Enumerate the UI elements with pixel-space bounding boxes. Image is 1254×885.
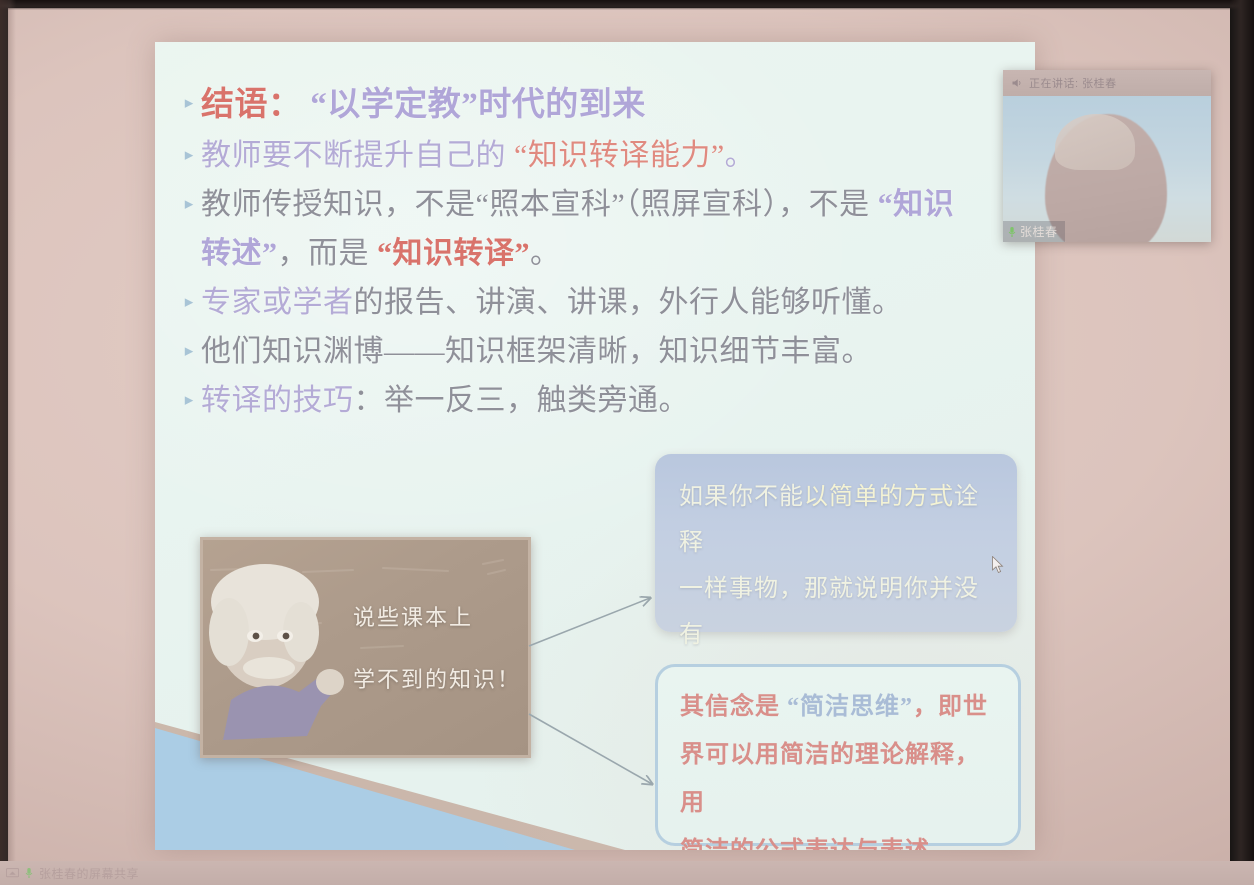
text-segment: ，而是 — [278, 237, 378, 270]
slide-bullet-text: 教师传授知识，不是“照本宣科”（照屏宣科），不是 “知识 — [201, 181, 1023, 228]
text-segment: 教师要不断提升自己的 — [201, 139, 506, 172]
slide-bullet-text: 转译的技巧：举一反三，触类旁通。 — [201, 377, 1023, 424]
text-segment: “知识转译” — [377, 237, 530, 270]
photo-left-edge — [0, 0, 16, 885]
callout-box-red: 其信念是 “简洁思维”，即世界可以用简洁的理论解释，用简洁的公式表达与表述 — [655, 664, 1021, 846]
video-overlay-titlebar[interactable]: 正在讲话: 张桂春 — [1003, 70, 1211, 96]
text-segment: 。 — [725, 139, 756, 172]
participant-name-label: 张桂春 — [1020, 223, 1058, 240]
slide-bullet-list: ▸结语： “以学定教”时代的到来▸教师要不断提升自己的 “知识转译能力”。▸教师… — [177, 80, 1023, 426]
bullet-triangle-icon: ▸ — [177, 132, 201, 178]
einstein-caption-line-1: 说些课本上 — [353, 600, 473, 632]
text-segment: 教师传授知识，不是 — [201, 188, 476, 221]
video-feed[interactable]: 张桂春 — [1003, 96, 1211, 242]
text-segment: 专家或学者 — [201, 286, 354, 319]
arrow-to-blue-callout — [529, 598, 650, 646]
text-segment: “简洁思维” — [780, 694, 913, 720]
text-segment: 。 — [530, 237, 561, 270]
photographed-projection-scene: ▸结语： “以学定教”时代的到来▸教师要不断提升自己的 “知识转译能力”。▸教师… — [0, 0, 1254, 885]
slide-bullet-row: ▸教师传授知识，不是“照本宣科”（照屏宣科），不是 “知识 — [177, 181, 1023, 228]
einstein-chalkboard-image: 说些课本上 学不到的知识！ — [200, 537, 531, 758]
slide-bullet-row: ▸转译的技巧：举一反三，触类旁通。 — [177, 377, 1023, 424]
text-segment: ：举一反三，触类旁通。 — [354, 384, 690, 417]
callout-text-line: 简洁的公式表达与表述 — [680, 827, 996, 850]
screen-share-taskbar[interactable]: 张桂春的屏幕共享 — [0, 861, 1254, 885]
bullet-triangle-icon: ▸ — [177, 181, 201, 227]
slide-bullet-row: ▸教师要不断提升自己的 “知识转译能力”。 — [177, 132, 1023, 179]
slide-bullet-row: 转述”，而是 “知识转译”。 — [177, 230, 1023, 277]
photo-right-edge — [1230, 0, 1254, 885]
text-segment: 其信念是 — [680, 694, 780, 720]
microphone-icon — [24, 867, 34, 879]
text-segment: 简洁的公式表达与表述 — [680, 838, 930, 850]
text-segment: 他们知识渊博——知识框架清晰，知识细节丰富。 — [201, 335, 872, 368]
callout-text-line: 其信念是 “简洁思维”，即世 — [680, 683, 996, 731]
screen-share-icon — [6, 868, 19, 879]
taskbar-label: 张桂春的屏幕共享 — [39, 865, 139, 882]
text-segment: 如果你不能 — [679, 484, 804, 510]
text-segment: 转述” — [201, 237, 278, 270]
text-segment: 结语： — [201, 87, 302, 123]
slide-bullet-text: 教师要不断提升自己的 “知识转译能力”。 — [201, 132, 1023, 179]
participant-name-chip: 张桂春 — [1003, 221, 1065, 242]
mouse-cursor — [992, 556, 1004, 574]
text-segment: “以学定教”时代的到来 — [302, 87, 646, 123]
slide-bullet-text: 结语： “以学定教”时代的到来 — [201, 80, 1023, 130]
text-segment: “知识转译能力” — [506, 139, 725, 172]
text-segment: 以简单的方式 — [804, 484, 954, 510]
text-segment: “照本宣科” — [476, 188, 626, 221]
callout-text-line: 界可以用简洁的理论解释，用 — [680, 731, 996, 827]
einstein-illustration — [203, 540, 528, 755]
bullet-triangle-icon: ▸ — [177, 279, 201, 325]
callout-text-line: 如果你不能以简单的方式诠释 — [679, 474, 993, 566]
photo-top-edge — [0, 0, 1254, 10]
bullet-triangle-icon: ▸ — [177, 328, 201, 374]
text-segment: 转译的技巧 — [201, 384, 354, 417]
slide-bullet-row: ▸他们知识渊博——知识框架清晰，知识细节丰富。 — [177, 328, 1023, 375]
bullet-triangle-icon: ▸ — [177, 80, 201, 126]
text-segment: ，即世 — [913, 694, 988, 720]
text-segment: 界可以用简洁的理论解释，用 — [680, 742, 980, 816]
text-segment: “知识 — [878, 188, 955, 221]
bullet-triangle-icon: ▸ — [177, 377, 201, 423]
slide-bullet-text: 他们知识渊博——知识框架清晰，知识细节丰富。 — [201, 328, 1023, 375]
callout-text-line: 一样事物，那就说明你并没有 — [679, 566, 993, 658]
text-segment: 的报告、讲演、讲课，外行人能够听懂。 — [354, 286, 903, 319]
slide-bullet-row: ▸专家或学者的报告、讲演、讲课，外行人能够听懂。 — [177, 279, 1023, 326]
callout-box-blue: 如果你不能以简单的方式诠释一样事物，那就说明你并没有真正地理解它 — [655, 454, 1017, 632]
einstein-caption-line-2: 学不到的知识！ — [353, 662, 521, 694]
microphone-icon — [1007, 226, 1017, 238]
video-speaking-label: 正在讲话: 张桂春 — [1029, 75, 1117, 91]
slide-bullet-row: ▸结语： “以学定教”时代的到来 — [177, 80, 1023, 130]
participant-hair — [1055, 114, 1135, 170]
video-participant-overlay[interactable]: 正在讲话: 张桂春 张桂春 — [1003, 70, 1211, 242]
speaker-icon — [1011, 77, 1023, 89]
text-segment: 一样事物，那就说明你并没有 — [679, 576, 979, 648]
slide-bullet-text: 转述”，而是 “知识转译”。 — [201, 230, 1023, 277]
text-segment: （照屏宣科），不是 — [625, 188, 878, 221]
slide-bullet-text: 专家或学者的报告、讲演、讲课，外行人能够听懂。 — [201, 279, 1023, 326]
presentation-slide: ▸结语： “以学定教”时代的到来▸教师要不断提升自己的 “知识转译能力”。▸教师… — [155, 42, 1035, 850]
